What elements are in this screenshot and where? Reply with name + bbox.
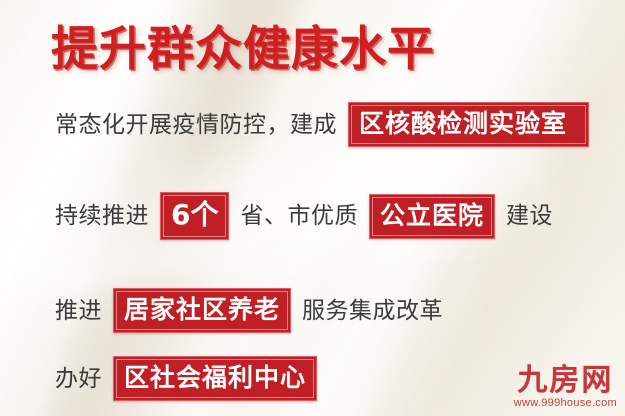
- line3-plain-text-1: 推进: [55, 296, 102, 326]
- poster-title: 提升群众健康水平: [51, 22, 435, 78]
- watermark-logo-text: 九房网: [514, 365, 617, 397]
- poster-line-3: 推进 居家社区养老 服务集成改革: [55, 288, 443, 333]
- poster-line-1: 常态化开展疫情防控，建成 区核酸检测实验室: [55, 102, 589, 147]
- line4-highlight-welfare-center: 区社会福利中心: [113, 356, 317, 401]
- line2-plain-text-1: 持续推进: [55, 201, 149, 231]
- poster-canvas: 提升群众健康水平 常态化开展疫情防控，建成 区核酸检测实验室 持续推进 6个 省…: [0, 0, 625, 416]
- line1-highlight-lab: 区核酸检测实验室: [348, 102, 589, 147]
- watermark: 九房网 www.999house.com: [514, 365, 617, 410]
- line2-plain-text-3: 建设: [506, 201, 553, 231]
- poster-line-2: 持续推进 6个 省、市优质 公立医院 建设: [55, 192, 553, 240]
- line4-plain-text: 办好: [55, 364, 102, 394]
- line2-highlight-count: 6个: [160, 192, 229, 240]
- line3-highlight-eldercare: 居家社区养老: [113, 288, 291, 333]
- line2-plain-text-2: 省、市优质: [240, 201, 358, 231]
- line3-plain-text-2: 服务集成改革: [302, 296, 443, 326]
- poster-line-4: 办好 区社会福利中心: [55, 356, 317, 401]
- line1-plain-text: 常态化开展疫情防控，建成: [55, 110, 337, 140]
- line2-highlight-hospital: 公立医院: [369, 194, 495, 239]
- watermark-url-text: www.999house.com: [514, 397, 617, 410]
